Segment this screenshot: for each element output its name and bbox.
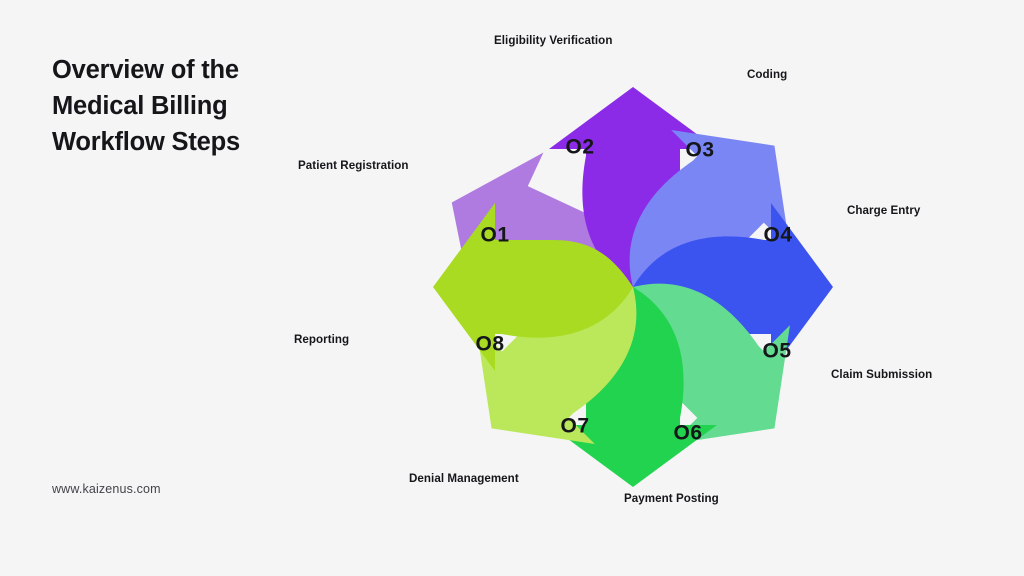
step-label-o2: Eligibility Verification bbox=[494, 34, 612, 47]
step-label-o7: Denial Management bbox=[409, 472, 519, 485]
step-label-o3: Coding bbox=[747, 68, 787, 81]
arrow-shapes-group bbox=[416, 86, 834, 488]
arrow-number-o5: O5 bbox=[762, 340, 791, 363]
step-label-o1: Patient Registration bbox=[298, 159, 409, 172]
step-label-o8: Reporting bbox=[294, 333, 349, 346]
footer-website-url: www.kaizenus.com bbox=[52, 482, 161, 496]
infographic-canvas: Overview of the Medical Billing Workflow… bbox=[0, 0, 1024, 576]
step-label-o5: Claim Submission bbox=[831, 368, 932, 381]
arrow-number-o4: O4 bbox=[763, 224, 792, 247]
arrow-number-o8: O8 bbox=[475, 333, 504, 356]
arrow-number-o1: O1 bbox=[480, 224, 509, 247]
arrow-number-o6: O6 bbox=[673, 422, 702, 445]
arrow-number-o2: O2 bbox=[565, 136, 594, 159]
arrow-number-o7: O7 bbox=[560, 415, 589, 438]
page-title: Overview of the Medical Billing Workflow… bbox=[52, 52, 352, 161]
step-label-o6: Payment Posting bbox=[624, 492, 719, 505]
step-label-o4: Charge Entry bbox=[847, 204, 920, 217]
arrow-number-o3: O3 bbox=[685, 139, 714, 162]
